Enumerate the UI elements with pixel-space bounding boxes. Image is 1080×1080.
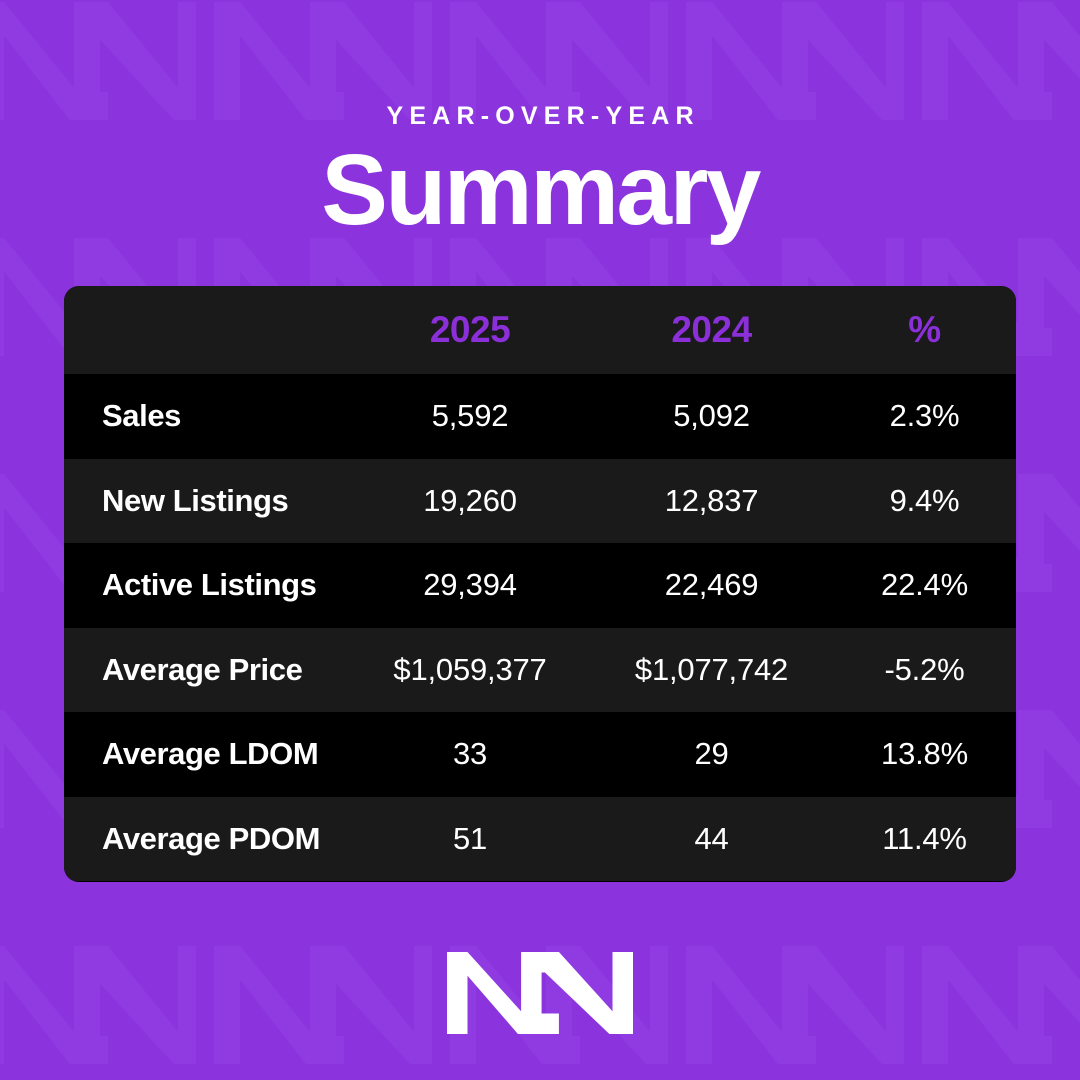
cell-value-percent: 22.4%	[881, 567, 968, 602]
table-cell-2024: 44	[590, 821, 833, 857]
table-header-label-2025: 2025	[430, 309, 510, 350]
table-cell-2025: 5,592	[350, 398, 590, 434]
table-row: Average LDOM 33 29 13.8%	[64, 712, 1016, 797]
table-cell-metric: Sales	[64, 398, 350, 434]
table-row: Average Price $1,059,377 $1,077,742 -5.2…	[64, 628, 1016, 713]
row-label: Sales	[102, 398, 181, 433]
cell-value-2025: $1,059,377	[393, 652, 546, 687]
table-row: New Listings 19,260 12,837 9.4%	[64, 459, 1016, 544]
table-cell-percent: 22.4%	[833, 567, 1016, 603]
cell-value-percent: -5.2%	[885, 652, 965, 687]
row-label: Average Price	[102, 652, 302, 687]
page-title: Summary	[0, 136, 1080, 244]
page-header: YEAR-OVER-YEAR Summary	[0, 0, 1080, 244]
table-cell-2025: $1,059,377	[350, 652, 590, 688]
table-cell-2025: 51	[350, 821, 590, 857]
cell-value-percent: 13.8%	[881, 736, 968, 771]
row-label: Active Listings	[102, 567, 317, 602]
table-cell-2024: 12,837	[590, 483, 833, 519]
cell-value-2025: 29,394	[423, 567, 517, 602]
table-cell-metric: New Listings	[64, 483, 350, 519]
table-header-cell-percent: %	[833, 309, 1016, 351]
cell-value-percent: 11.4%	[882, 821, 967, 856]
table-cell-percent: 13.8%	[833, 736, 1016, 772]
row-label: Average PDOM	[102, 821, 320, 856]
table-cell-percent: 9.4%	[833, 483, 1016, 519]
table-cell-metric: Average PDOM	[64, 821, 350, 857]
cell-value-2025: 5,592	[432, 398, 509, 433]
table-cell-2024: 29	[590, 736, 833, 772]
cell-value-2024: 12,837	[665, 483, 759, 518]
row-label: Average LDOM	[102, 736, 318, 771]
table-cell-metric: Average Price	[64, 652, 350, 688]
table-row: Average PDOM 51 44 11.4%	[64, 797, 1016, 882]
table-cell-2024: $1,077,742	[590, 652, 833, 688]
cell-value-percent: 9.4%	[890, 483, 960, 518]
summary-table: 2025 2024 % Sales 5,592 5,092 2.3% New L…	[64, 286, 1016, 882]
table-cell-2025: 19,260	[350, 483, 590, 519]
table-cell-percent: 2.3%	[833, 398, 1016, 434]
table-cell-percent: 11.4%	[833, 821, 1016, 857]
table-row: Active Listings 29,394 22,469 22.4%	[64, 543, 1016, 628]
cell-value-2025: 51	[453, 821, 487, 856]
table-cell-2025: 29,394	[350, 567, 590, 603]
cell-value-2025: 19,260	[423, 483, 517, 518]
row-label: New Listings	[102, 483, 288, 518]
table-cell-2024: 5,092	[590, 398, 833, 434]
cell-value-2024: 22,469	[665, 567, 759, 602]
footer-logo-container	[0, 948, 1080, 1038]
cell-value-2024: 44	[694, 821, 728, 856]
eyebrow-text: YEAR-OVER-YEAR	[0, 104, 1080, 129]
table-header-cell-2024: 2024	[590, 309, 833, 351]
table-cell-metric: Active Listings	[64, 567, 350, 603]
table-cell-metric: Average LDOM	[64, 736, 350, 772]
table-header-label-percent: %	[908, 309, 940, 350]
cell-value-percent: 2.3%	[890, 398, 960, 433]
table-header-cell-2025: 2025	[350, 309, 590, 351]
double-n-logo-icon	[447, 952, 633, 1034]
table-header-row: 2025 2024 %	[64, 286, 1016, 374]
table-cell-2024: 22,469	[590, 567, 833, 603]
table-header-label-2024: 2024	[671, 309, 751, 350]
cell-value-2024: 5,092	[673, 398, 750, 433]
cell-value-2024: 29	[694, 736, 728, 771]
cell-value-2025: 33	[453, 736, 487, 771]
table-cell-percent: -5.2%	[833, 652, 1016, 688]
cell-value-2024: $1,077,742	[635, 652, 788, 687]
table-row: Sales 5,592 5,092 2.3%	[64, 374, 1016, 459]
table-cell-2025: 33	[350, 736, 590, 772]
